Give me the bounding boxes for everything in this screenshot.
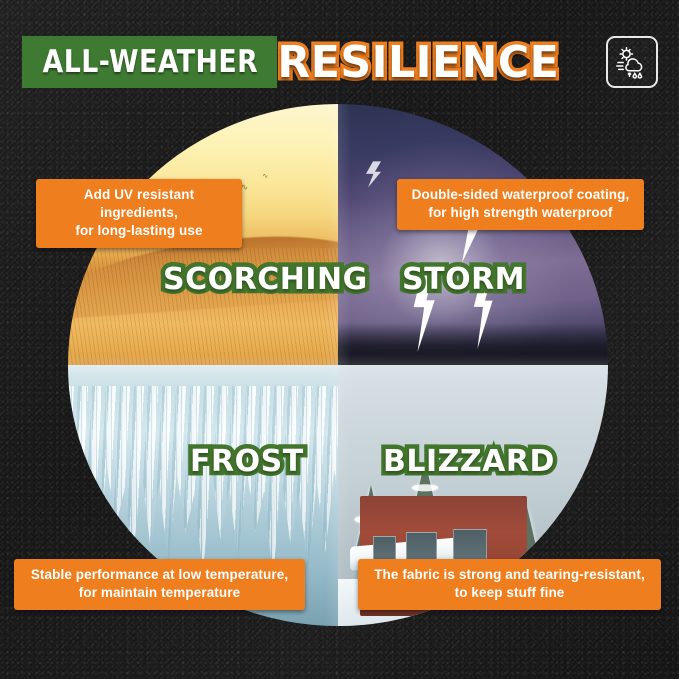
weather-mixed-icon bbox=[614, 44, 650, 80]
caption-uv-resistance: Add UV resistant ingredients, for long-l… bbox=[36, 179, 242, 248]
header-banner: ALL-WEATHER RESILIENCE bbox=[22, 33, 658, 91]
title-green-block: ALL-WEATHER bbox=[22, 36, 277, 88]
label-scorching: SCORCHING bbox=[163, 262, 368, 297]
weather-icon-badge bbox=[606, 36, 658, 88]
quadrant-storm bbox=[338, 104, 608, 365]
page-title-accent: RESILIENCE bbox=[277, 37, 559, 88]
label-blizzard: BLIZZARD bbox=[383, 444, 555, 479]
bird-icon: ∿ bbox=[262, 172, 268, 180]
label-frost: FROST bbox=[190, 444, 304, 479]
caption-low-temperature: Stable performance at low temperature, f… bbox=[14, 559, 305, 610]
label-storm: STORM bbox=[402, 262, 525, 297]
caption-tear-resistance: The fabric is strong and tearing-resista… bbox=[358, 559, 661, 610]
lightning-bolt-icon bbox=[365, 161, 381, 187]
caption-waterproof-coating: Double-sided waterproof coating, for hig… bbox=[397, 179, 644, 230]
page-title-primary: ALL-WEATHER bbox=[42, 44, 258, 80]
